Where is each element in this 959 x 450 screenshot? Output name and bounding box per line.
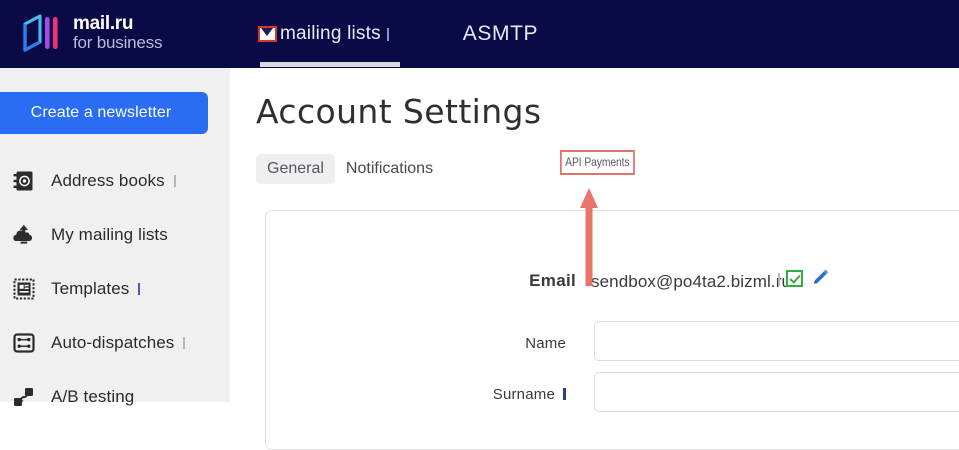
sidebar-item-ab-testing[interactable]: A/B testing xyxy=(0,370,230,424)
tab-api-payments[interactable]: API Payments xyxy=(560,150,635,175)
name-input[interactable] xyxy=(594,321,959,361)
surname-input[interactable] xyxy=(594,372,959,412)
settings-card: Email sendbox@po4ta2.bizml.ru Name Surna xyxy=(265,210,959,450)
brand-logo-text: mail.ru for business xyxy=(73,14,162,52)
sidebar-item-my-mailing-lists-label: My mailing lists xyxy=(51,225,168,245)
envelope-icon xyxy=(258,26,277,42)
settings-tab-list: General Notifications xyxy=(256,154,444,184)
tab-asmtp-label: ASMTP xyxy=(463,22,538,46)
upload-cloud-icon xyxy=(12,223,36,247)
mailru-business-logo-icon xyxy=(18,12,64,54)
text-cursor-mark xyxy=(778,273,780,286)
pencil-edit-icon[interactable] xyxy=(811,268,830,287)
text-cursor-mark xyxy=(387,28,389,41)
text-cursor-mark xyxy=(174,175,176,187)
app-root: mail.ru for business mailing lists ASMTP… xyxy=(0,0,959,402)
name-label: Name xyxy=(266,335,566,352)
green-check-icon[interactable] xyxy=(786,270,803,287)
active-tab-underline xyxy=(260,62,400,67)
text-cursor-mark xyxy=(183,337,185,349)
brand-logo[interactable]: mail.ru for business xyxy=(18,8,188,58)
sidebar-item-my-mailing-lists[interactable]: My mailing lists xyxy=(0,208,230,262)
tab-general[interactable]: General xyxy=(256,154,335,184)
brand-name: mail.ru xyxy=(73,14,162,34)
main-content: Account Settings General Notifications A… xyxy=(230,68,959,402)
sidebar-item-address-books[interactable]: Address books xyxy=(0,154,230,208)
address-book-icon xyxy=(12,169,36,193)
sidebar: Create a newsletter Address books xyxy=(0,68,230,402)
ab-testing-icon xyxy=(12,385,36,409)
sidebar-item-ab-testing-label: A/B testing xyxy=(51,387,134,407)
top-navigation-bar: mail.ru for business mailing lists ASMTP xyxy=(0,0,959,68)
tab-mailing-lists[interactable]: mailing lists xyxy=(258,0,389,68)
sidebar-item-auto-dispatches[interactable]: Auto-dispatches xyxy=(0,316,230,370)
sidebar-menu: Address books My mailing lists xyxy=(0,154,230,424)
surname-label: Surname xyxy=(266,386,566,403)
create-newsletter-button[interactable]: Create a newsletter xyxy=(0,92,208,134)
header-tab-list: mailing lists ASMTP xyxy=(258,0,538,68)
text-cursor-mark xyxy=(138,283,140,295)
email-label: Email xyxy=(516,271,576,291)
sidebar-item-auto-dispatches-label: Auto-dispatches xyxy=(51,333,174,353)
sidebar-item-templates-label: Templates xyxy=(51,279,129,299)
tab-notifications[interactable]: Notifications xyxy=(335,154,444,184)
auto-dispatch-icon xyxy=(12,331,36,355)
template-icon xyxy=(12,277,36,301)
surname-label-text: Surname xyxy=(493,386,555,403)
tab-asmtp[interactable]: ASMTP xyxy=(441,0,538,68)
tab-mailing-lists-label: mailing lists xyxy=(280,23,381,45)
page-title: Account Settings xyxy=(256,92,541,131)
email-value: sendbox@po4ta2.bizml.ru xyxy=(591,272,791,292)
sidebar-item-address-books-label: Address books xyxy=(51,171,165,191)
sidebar-item-templates[interactable]: Templates xyxy=(0,262,230,316)
text-cursor-mark xyxy=(563,388,566,400)
brand-tagline: for business xyxy=(73,34,162,52)
